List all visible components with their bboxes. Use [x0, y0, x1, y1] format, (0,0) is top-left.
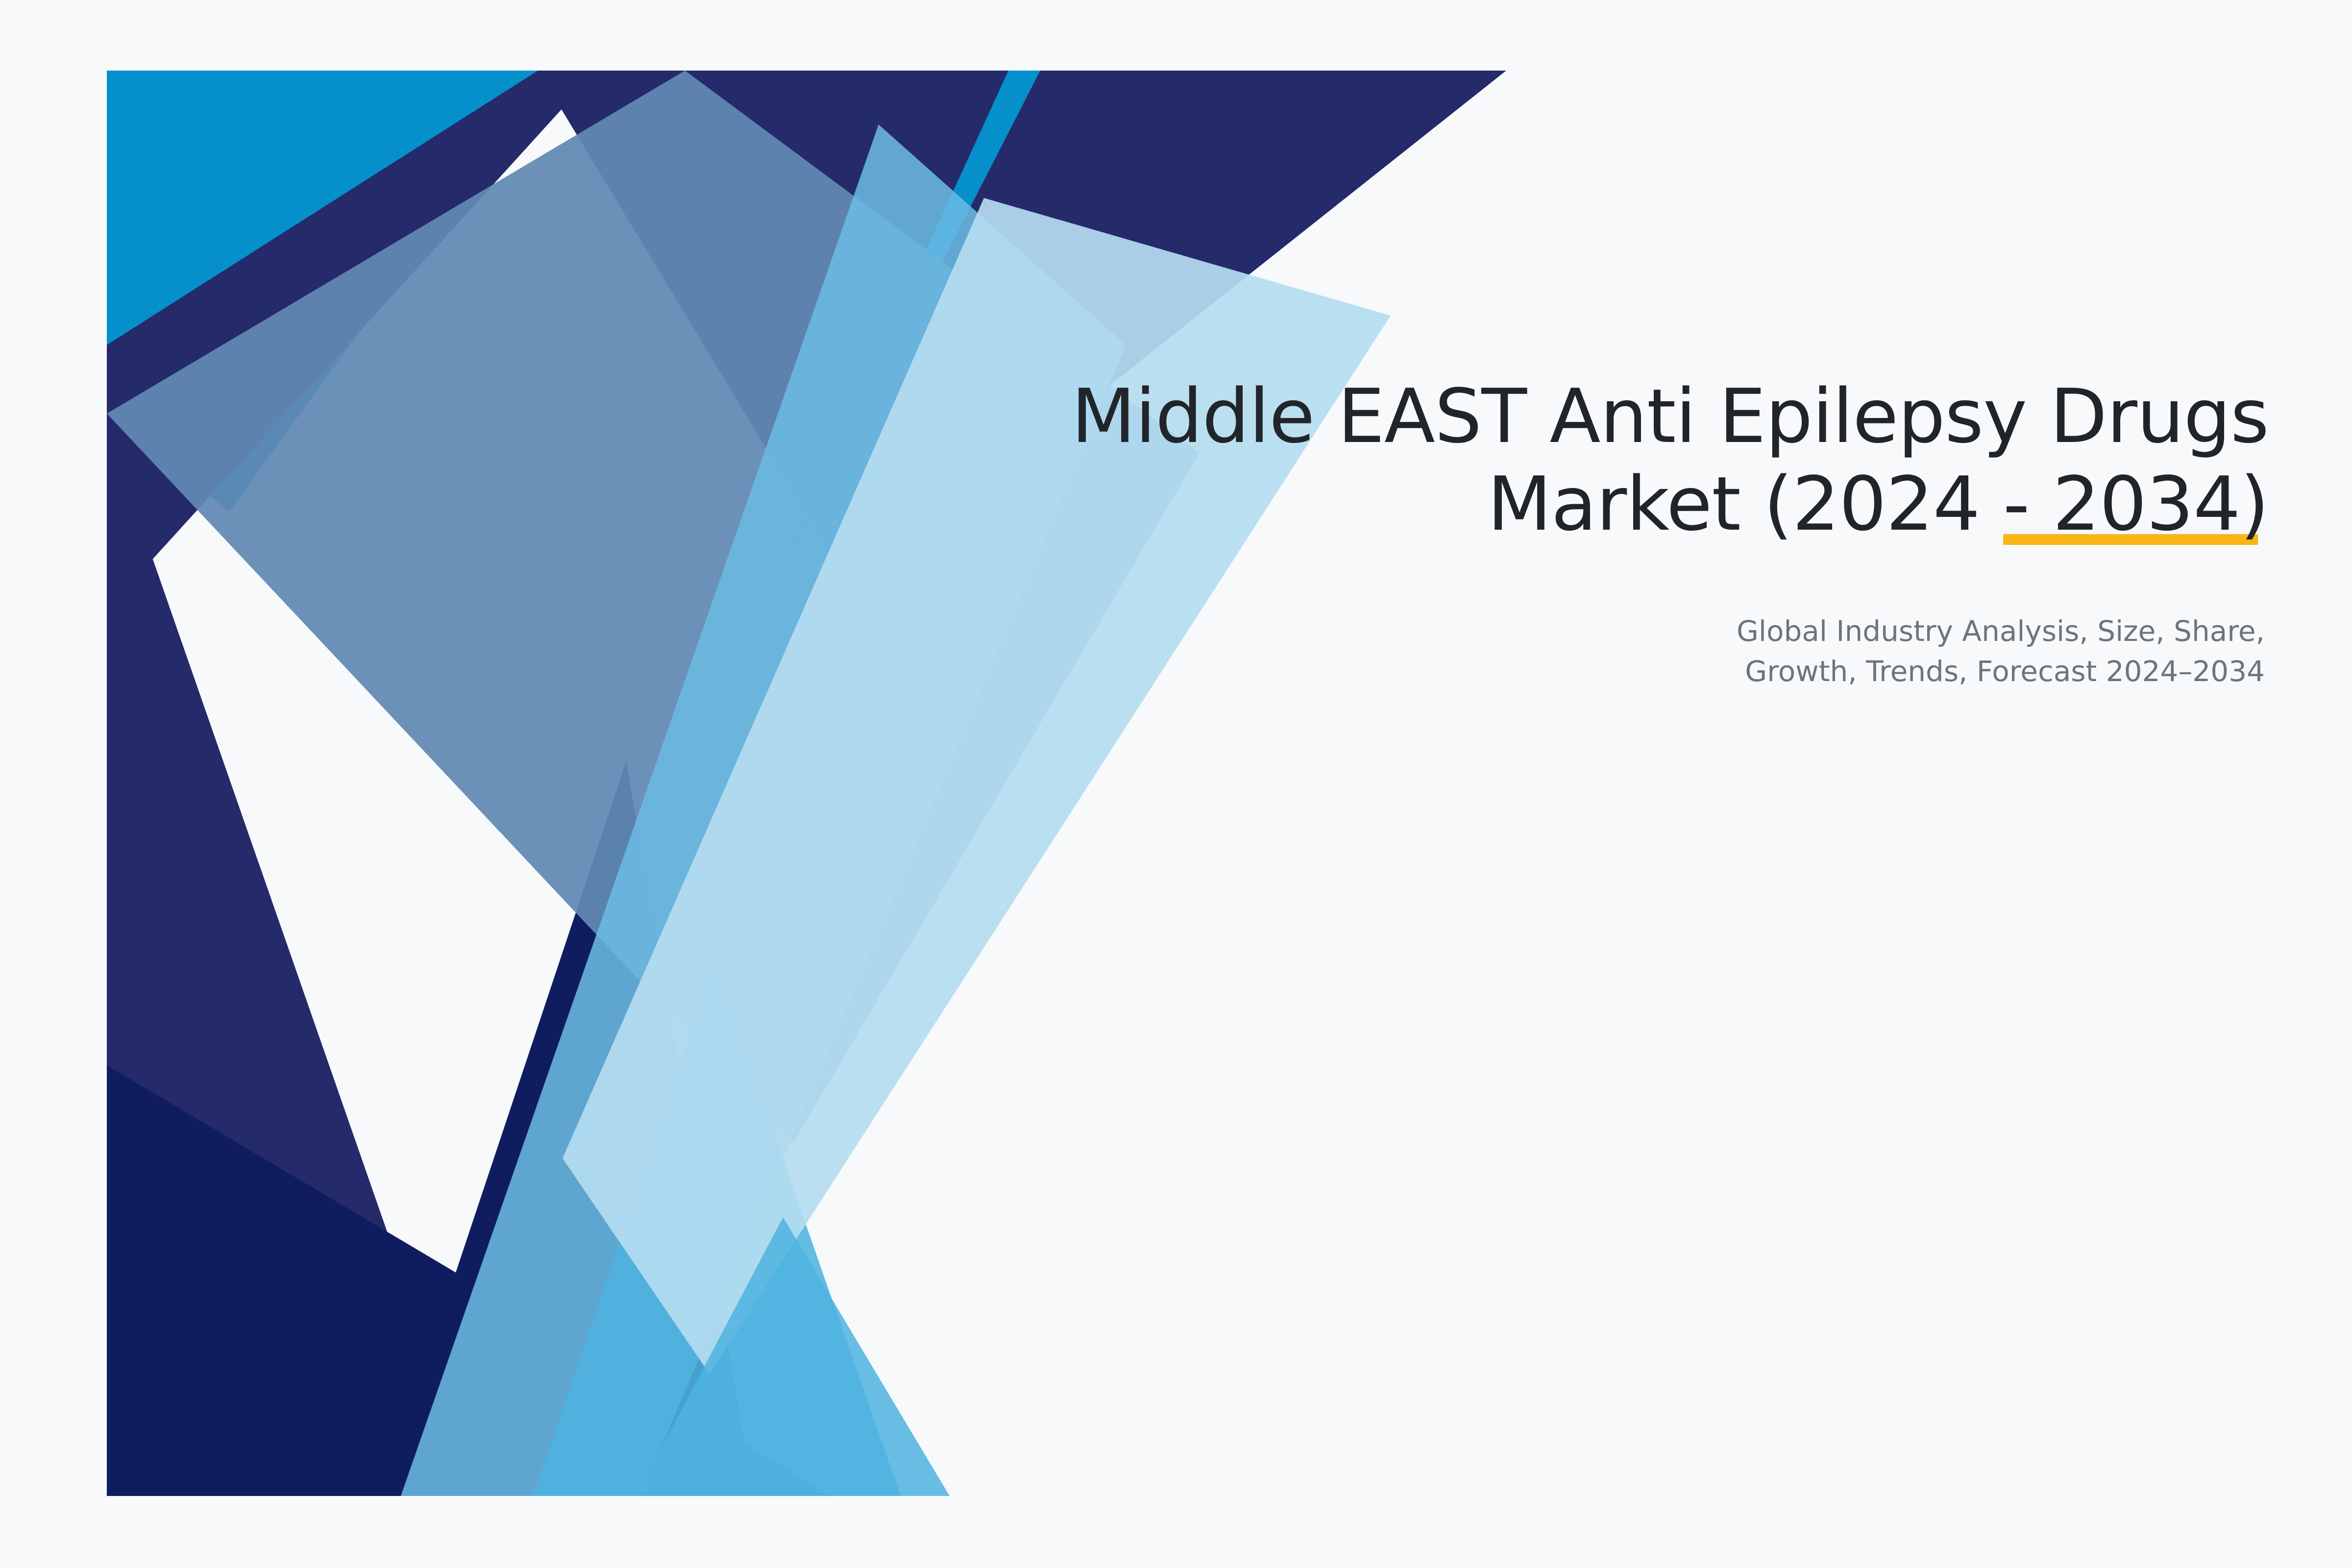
- page-subtitle-line-1: Global Industry Analysis, Size, Share,: [1737, 614, 2265, 648]
- title-wrapper: Middle EAST Anti Epilepsy Drugs Market (…: [931, 372, 2269, 548]
- page-title-line-1: Middle EAST Anti Epilepsy Drugs: [1071, 373, 2269, 460]
- abstract-geometric-artwork: [107, 71, 1506, 1496]
- report-cover-page: Middle EAST Anti Epilepsy Drugs Market (…: [0, 0, 2352, 1568]
- page-subtitle: Global Industry Analysis, Size, Share, G…: [931, 611, 2265, 692]
- page-title: Middle EAST Anti Epilepsy Drugs Market (…: [931, 372, 2269, 548]
- page-subtitle-line-2: Growth, Trends, Forecast 2024–2034: [1745, 655, 2265, 688]
- artwork-svg: [107, 71, 1506, 1496]
- page-title-line-2: Market (2024 - 2034): [1487, 461, 2269, 547]
- cover-text-block: Middle EAST Anti Epilepsy Drugs Market (…: [931, 372, 2269, 691]
